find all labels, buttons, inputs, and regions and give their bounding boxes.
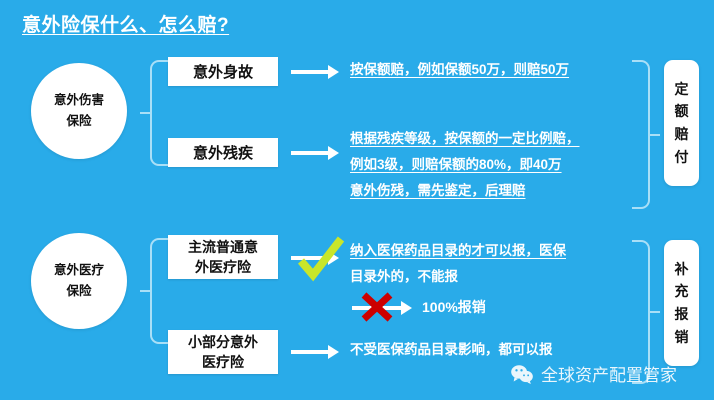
item-box-accidental-death-label: 意外身故 (193, 61, 253, 82)
desc-accidental-disability: 根据残疾等级，按保额的一定比例赔， 例如3级，则赔保额的80%，即40万 意外伤… (350, 126, 580, 204)
desc-mainstream-medical-line2: 目录外的，不能报 (350, 264, 566, 290)
desc-minor-medical-line1: 不受医保药品目录影响，都可以报 (350, 337, 553, 363)
category-circle-accident: 意外伤害 保险 (31, 63, 127, 159)
bracket-supplementary-reimbursement-stem (648, 311, 660, 313)
category-circle-accident-line2: 保险 (66, 111, 91, 132)
result-pill-supplementary-char2: 充 (675, 280, 689, 303)
arrow-right-icon-full-reimbursement (352, 304, 412, 311)
watermark-text: 全球资产配置管家 (541, 361, 677, 386)
arrow-right-icon-accidental-death (291, 68, 339, 75)
item-box-mainstream-medical-line1: 主流普通意 (188, 237, 258, 257)
infographic-canvas: 意外险保什么、怎么赔? 意外伤害 保险 意外身故 按保额赔，例如保额50万，则赔… (0, 0, 714, 400)
desc-accidental-disability-line3: 意外伤残，需先鉴定，后理赔 (350, 178, 580, 204)
desc-accidental-death: 按保额赔，例如保额50万，则赔50万 (350, 57, 569, 83)
category-circle-medical-line1: 意外医疗 (54, 260, 104, 281)
bracket-medical-branch (150, 238, 168, 344)
result-pill-fixed-payout-char3: 赔 (675, 123, 689, 146)
item-box-minor-medical-line2: 医疗险 (202, 352, 244, 372)
desc-accidental-death-line1: 按保额赔，例如保额50万，则赔50万 (350, 57, 569, 83)
result-pill-supplementary-char4: 销 (675, 326, 689, 349)
bracket-accident-stem (140, 112, 152, 114)
item-box-mainstream-medical-line2: 外医疗险 (195, 257, 251, 277)
arrow-right-icon-mainstream-medical (291, 254, 339, 261)
result-pill-fixed-payout-char2: 额 (675, 100, 689, 123)
label-full-reimbursement: 100%报销 (422, 297, 486, 317)
arrow-right-icon-minor-medical (291, 348, 339, 355)
item-box-accidental-death: 意外身故 (168, 57, 278, 86)
desc-mainstream-medical-line1: 纳入医保药品目录的才可以报，医保 (350, 238, 566, 264)
result-pill-supplementary-reimbursement: 补 充 报 销 (664, 240, 699, 366)
bracket-accident-branch (150, 60, 168, 166)
arrow-right-icon-accidental-disability (291, 149, 339, 156)
category-circle-medical-line2: 保险 (66, 281, 91, 302)
item-box-minor-medical: 小部分意外 医疗险 (168, 330, 278, 374)
desc-accidental-disability-line2: 例如3级，则赔保额的80%，即40万 (350, 152, 580, 178)
category-circle-accident-line1: 意外伤害 (54, 90, 104, 111)
result-pill-fixed-payout-char1: 定 (675, 78, 689, 101)
result-pill-fixed-payout-char4: 付 (675, 146, 689, 169)
item-box-minor-medical-line1: 小部分意外 (188, 332, 258, 352)
result-pill-fixed-payout: 定 额 赔 付 (664, 60, 699, 186)
watermark: 全球资产配置管家 (510, 361, 677, 386)
desc-minor-medical: 不受医保药品目录影响，都可以报 (350, 337, 553, 363)
bracket-medical-stem (140, 290, 152, 292)
page-title: 意外险保什么、怎么赔? (22, 10, 229, 37)
result-pill-supplementary-char3: 报 (675, 303, 689, 326)
item-box-accidental-disability-label: 意外残疾 (193, 142, 253, 163)
result-pill-supplementary-char1: 补 (675, 258, 689, 281)
category-circle-medical: 意外医疗 保险 (31, 233, 127, 329)
desc-mainstream-medical: 纳入医保药品目录的才可以报，医保 目录外的，不能报 (350, 238, 566, 290)
desc-accidental-disability-line1: 根据残疾等级，按保额的一定比例赔， (350, 126, 580, 152)
bracket-fixed-payout-stem (648, 134, 660, 136)
item-box-mainstream-medical: 主流普通意 外医疗险 (168, 235, 278, 279)
item-box-accidental-disability: 意外残疾 (168, 138, 278, 167)
wechat-icon (510, 364, 534, 384)
bracket-fixed-payout (632, 60, 650, 209)
